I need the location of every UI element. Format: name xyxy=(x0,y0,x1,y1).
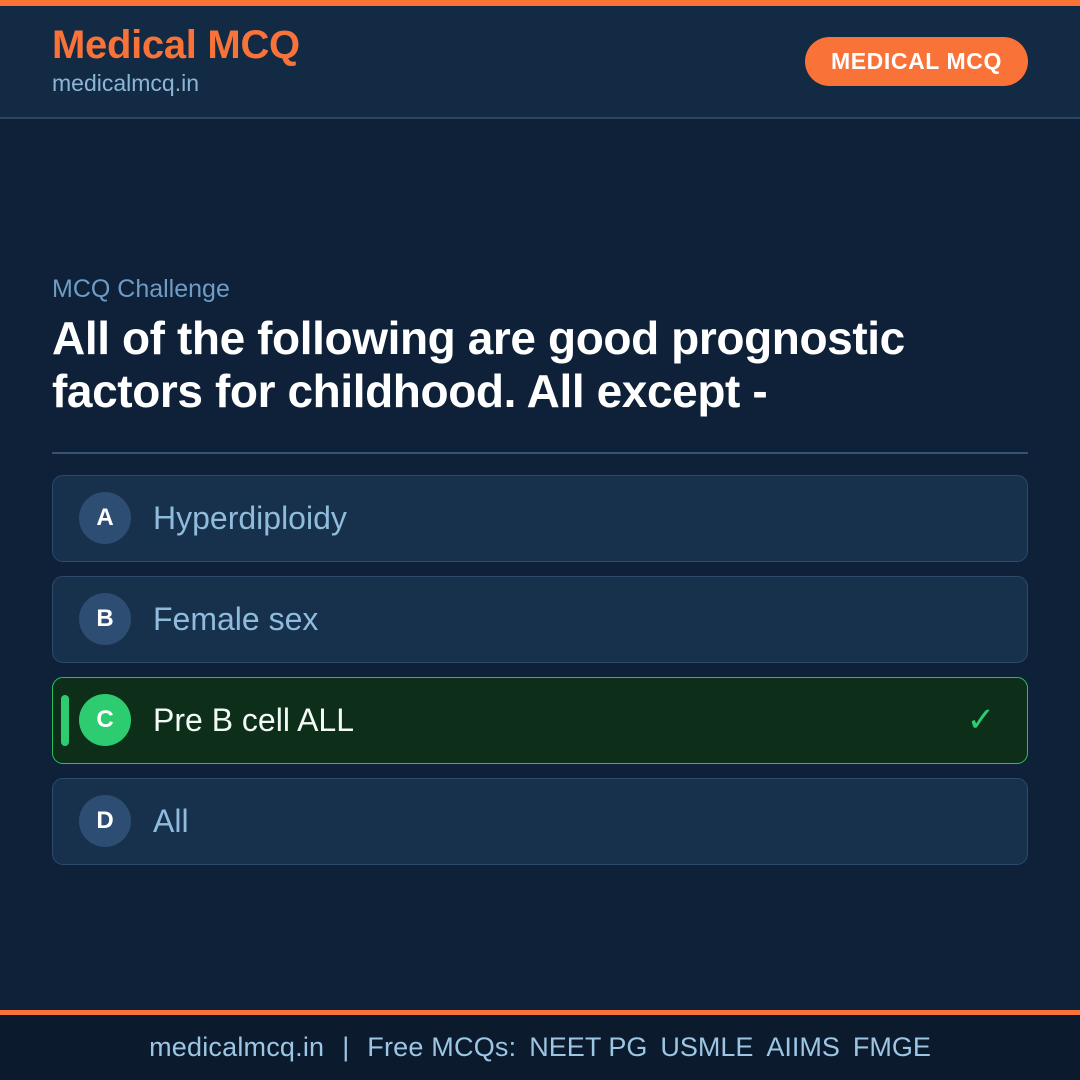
question-block: MCQ Challenge All of the following are g… xyxy=(52,274,1028,419)
option-letter-badge: A xyxy=(79,492,131,544)
footer-free-label: Free MCQs: xyxy=(367,1032,516,1063)
brand-subtitle: medicalmcq.in xyxy=(52,68,300,99)
option-letter-badge: D xyxy=(79,795,131,847)
option-label: Pre B cell ALL xyxy=(153,703,961,738)
option-letter-badge: C xyxy=(79,694,131,746)
mcq-card: Medical MCQ medicalmcq.in MEDICAL MCQ MC… xyxy=(0,0,1080,1080)
eyebrow-label: MCQ Challenge xyxy=(52,274,1028,304)
page-header: Medical MCQ medicalmcq.in MEDICAL MCQ xyxy=(0,6,1080,119)
main-content: MCQ Challenge All of the following are g… xyxy=(0,119,1080,1010)
footer-exam-neet-pg: NEET PG xyxy=(516,1032,647,1063)
page-footer: medicalmcq.in | Free MCQs: NEET PG USMLE… xyxy=(0,1015,1080,1080)
footer-exam-usmle: USMLE xyxy=(647,1032,753,1063)
question-text: All of the following are good prognostic… xyxy=(52,312,1012,419)
correct-accent-bar xyxy=(61,695,69,746)
option-b[interactable]: B Female sex xyxy=(52,576,1028,663)
question-divider xyxy=(52,452,1028,454)
option-label: All xyxy=(153,804,961,839)
footer-site: medicalmcq.in xyxy=(149,1032,324,1063)
footer-exam-fmge: FMGE xyxy=(840,1032,931,1063)
check-icon: ✓ xyxy=(961,700,1001,740)
brand: Medical MCQ medicalmcq.in xyxy=(52,24,300,99)
option-c[interactable]: C Pre B cell ALL ✓ xyxy=(52,677,1028,764)
header-badge: MEDICAL MCQ xyxy=(805,37,1028,86)
option-letter-badge: B xyxy=(79,593,131,645)
brand-title: Medical MCQ xyxy=(52,24,300,66)
footer-exam-aiims: AIIMS xyxy=(753,1032,840,1063)
footer-separator: | xyxy=(324,1032,367,1063)
option-label: Female sex xyxy=(153,602,961,637)
option-d[interactable]: D All xyxy=(52,778,1028,865)
options-list: A Hyperdiploidy B Female sex C Pre B cel… xyxy=(52,475,1028,865)
option-a[interactable]: A Hyperdiploidy xyxy=(52,475,1028,562)
option-label: Hyperdiploidy xyxy=(153,501,961,536)
